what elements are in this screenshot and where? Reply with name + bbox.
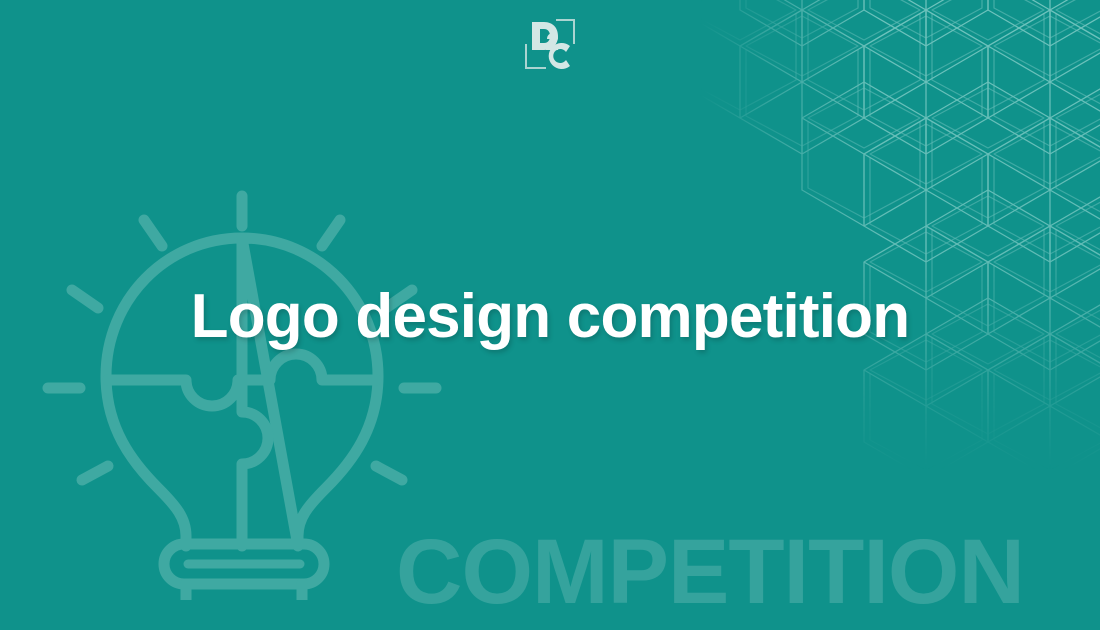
watermark-text: COMPETITION: [396, 526, 1024, 618]
bulb-screw-base: [186, 584, 302, 600]
puzzle-divider-left: [108, 380, 242, 406]
bulb-collar: [164, 544, 324, 584]
d2c-logo[interactable]: [522, 14, 578, 76]
page-title: Logo design competition: [0, 283, 1100, 351]
lightbulb-svg: [34, 180, 454, 600]
promo-banner: COMPETITION: [0, 0, 1100, 630]
cube-pattern-svg: [700, 0, 1100, 470]
isometric-cube-pattern: [700, 0, 1100, 470]
puzzle-divider-right: [242, 354, 376, 380]
lightbulb-puzzle-icon: [34, 180, 454, 600]
d2c-logo-svg: [522, 14, 578, 76]
logo-letters: [532, 22, 570, 69]
